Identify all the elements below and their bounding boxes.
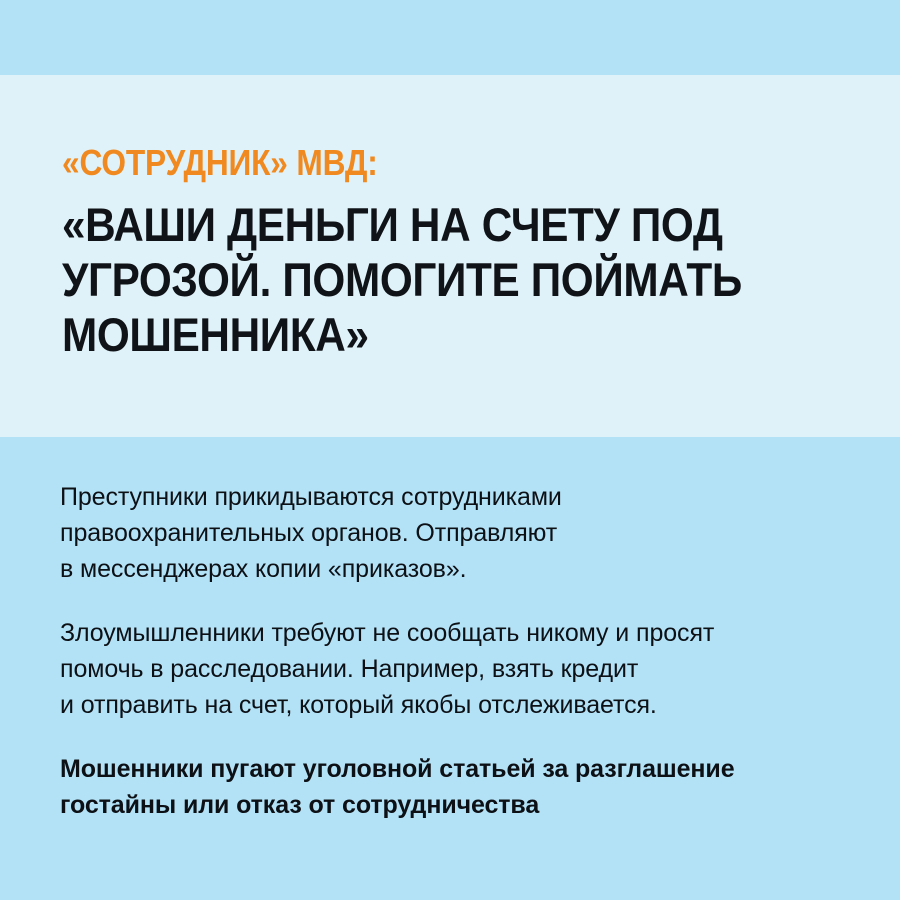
headline-line-1: «ВАШИ ДЕНЬГИ НА СЧЕТУ ПОД [62, 197, 742, 252]
body-paragraph-1: Преступники прикидываются сотрудниками п… [60, 479, 840, 587]
headline-line-2: УГРОЗОЙ. ПОМОГИТЕ ПОЙМАТЬ [62, 252, 742, 307]
body-paragraph-2: Злоумышленники требуют не сообщать ником… [60, 615, 840, 723]
body-section: Преступники прикидываются сотрудниками п… [0, 437, 900, 900]
headline-card: «СОТРУДНИК» МВД: «ВАШИ ДЕНЬГИ НА СЧЕТУ П… [0, 75, 900, 437]
body-paragraph-3: Мошенники пугают уголовной статьей за ра… [60, 751, 840, 823]
headline-line-3: МОШЕННИКА» [62, 307, 742, 362]
top-accent-band [0, 0, 900, 75]
kicker-text: «СОТРУДНИК» МВД: [62, 143, 378, 183]
infographic-slide: «СОТРУДНИК» МВД: «ВАШИ ДЕНЬГИ НА СЧЕТУ П… [0, 0, 900, 900]
page-title: «ВАШИ ДЕНЬГИ НА СЧЕТУ ПОД УГРОЗОЙ. ПОМОГ… [62, 197, 817, 362]
